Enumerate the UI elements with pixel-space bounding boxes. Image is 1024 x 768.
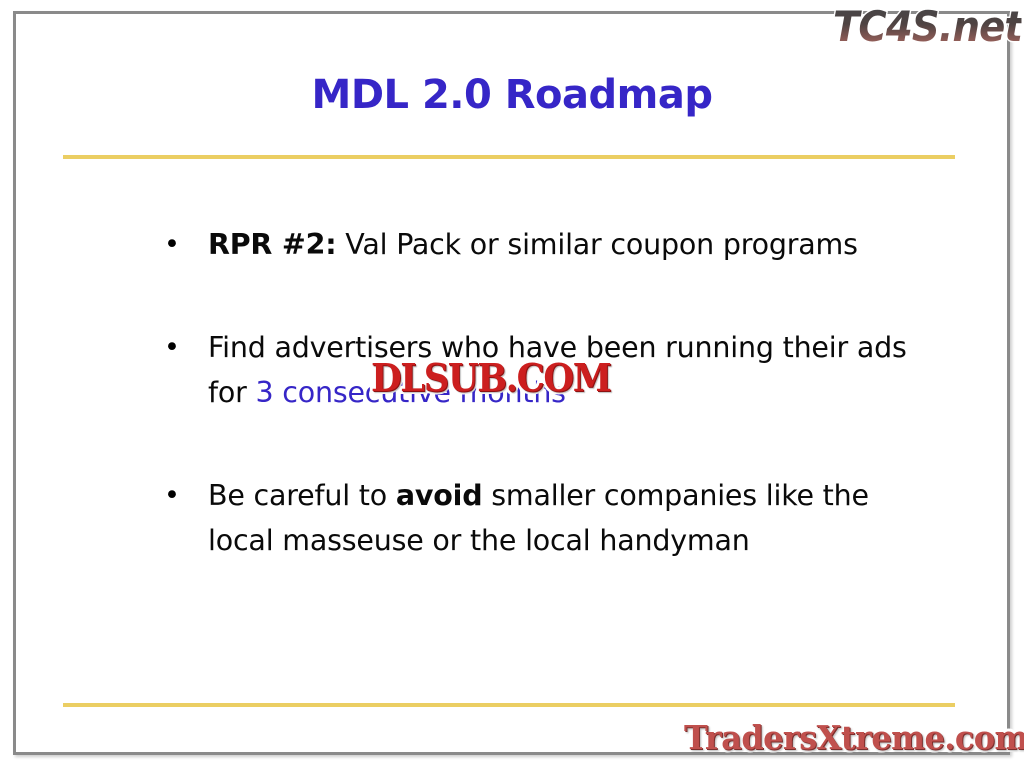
- watermark-tradersxtreme: TradersXtreme.com: [684, 718, 1024, 757]
- bullet-text: Be careful to avoid smaller companies li…: [208, 479, 869, 557]
- bullet-segment-normal: Be careful to: [208, 479, 396, 512]
- bullet-marker-icon: •: [164, 222, 184, 267]
- divider-rule-top: [63, 155, 955, 159]
- bullet-segment-normal: Val Pack or similar coupon programs: [336, 228, 857, 261]
- bullet-segment-bold: RPR #2:: [208, 228, 336, 261]
- bullet-item: • Be careful to avoid smaller companies …: [150, 473, 940, 563]
- watermark-dlsub: DLSUB.COM: [371, 355, 610, 400]
- bullet-marker-icon: •: [164, 325, 184, 370]
- divider-rule-bottom: [63, 703, 955, 707]
- slide-title: MDL 2.0 Roadmap: [0, 72, 1024, 118]
- bullet-segment-bold: avoid: [396, 479, 483, 512]
- slide-canvas: MDL 2.0 Roadmap • RPR #2: Val Pack or si…: [0, 0, 1024, 768]
- bullet-item: • RPR #2: Val Pack or similar coupon pro…: [150, 222, 940, 267]
- watermark-tc4s: TC4S.net: [833, 2, 1022, 51]
- bullet-marker-icon: •: [164, 473, 184, 518]
- bullet-text: RPR #2: Val Pack or similar coupon progr…: [208, 228, 858, 261]
